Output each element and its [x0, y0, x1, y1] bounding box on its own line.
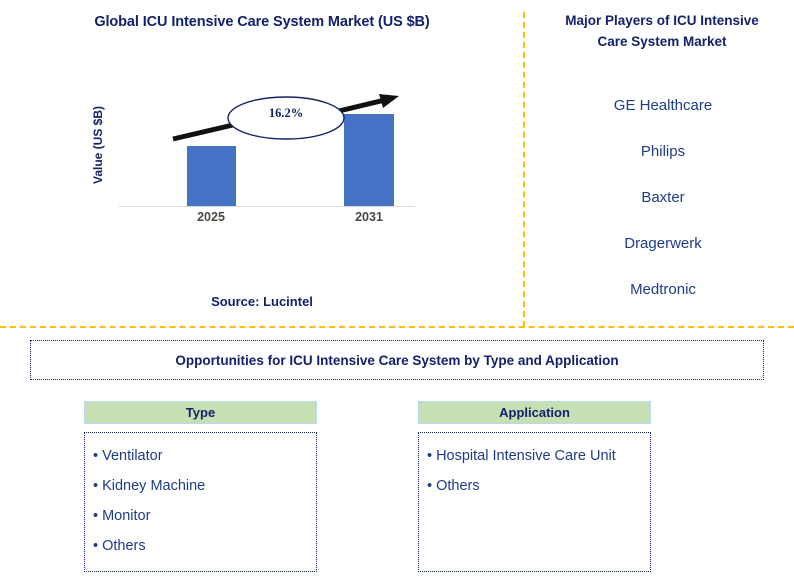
application-column-header: Application [418, 401, 651, 424]
major-players-panel: Major Players of ICU Intensive Care Syst… [528, 0, 794, 327]
list-item-label: Kidney Machine [102, 478, 205, 494]
chart-title: Global ICU Intensive Care System Market … [0, 14, 524, 30]
list-item: •Monitor [93, 501, 310, 531]
list-item-label: Hospital Intensive Care Unit [436, 448, 616, 464]
bar-2025 [187, 146, 236, 206]
type-column-header: Type [84, 401, 317, 424]
opportunities-banner: Opportunities for ICU Intensive Care Sys… [30, 340, 764, 380]
bullet-icon: • [93, 478, 98, 494]
list-item: •Others [427, 471, 644, 501]
bullet-icon: • [427, 448, 432, 464]
vertical-divider [523, 12, 525, 327]
cagr-value-label: 16.2% [241, 106, 331, 121]
y-axis-label: Value (US $B) [91, 90, 105, 200]
list-item-label: Others [102, 538, 146, 554]
major-players-list: GE Healthcare Philips Baxter Dragerwerk … [538, 92, 788, 322]
player-item: Baxter [538, 184, 788, 230]
opportunities-title: Opportunities for ICU Intensive Care Sys… [175, 353, 618, 368]
list-item: •Ventilator [93, 441, 310, 471]
application-column-box: •Hospital Intensive Care Unit •Others [418, 432, 651, 572]
x-axis-line [119, 206, 415, 207]
list-item-label: Monitor [102, 508, 150, 524]
player-item: Dragerwerk [538, 230, 788, 276]
list-item: •Hospital Intensive Care Unit [427, 441, 644, 471]
player-item: Philips [538, 138, 788, 184]
x-tick-label-2031: 2031 [329, 210, 409, 224]
chart-plot-area: 2025 2031 16.2% [119, 88, 415, 207]
list-item: •Kidney Machine [93, 471, 310, 501]
bullet-icon: • [93, 538, 98, 554]
player-item: GE Healthcare [538, 92, 788, 138]
list-item-label: Others [436, 478, 480, 494]
list-item: •Others [93, 531, 310, 561]
bar-2031 [344, 114, 394, 206]
player-item: Medtronic [538, 276, 788, 322]
source-note: Source: Lucintel [0, 294, 524, 309]
bullet-icon: • [427, 478, 432, 494]
major-players-title: Major Players of ICU Intensive Care Syst… [552, 10, 772, 52]
type-column-box: •Ventilator •Kidney Machine •Monitor •Ot… [84, 432, 317, 572]
bar-chart-figure: Value (US $B) 2025 2031 16.2% [105, 88, 415, 223]
x-tick-label-2025: 2025 [171, 210, 251, 224]
list-item-label: Ventilator [102, 448, 162, 464]
market-chart-panel: Global ICU Intensive Care System Market … [0, 0, 524, 327]
bullet-icon: • [93, 508, 98, 524]
bullet-icon: • [93, 448, 98, 464]
